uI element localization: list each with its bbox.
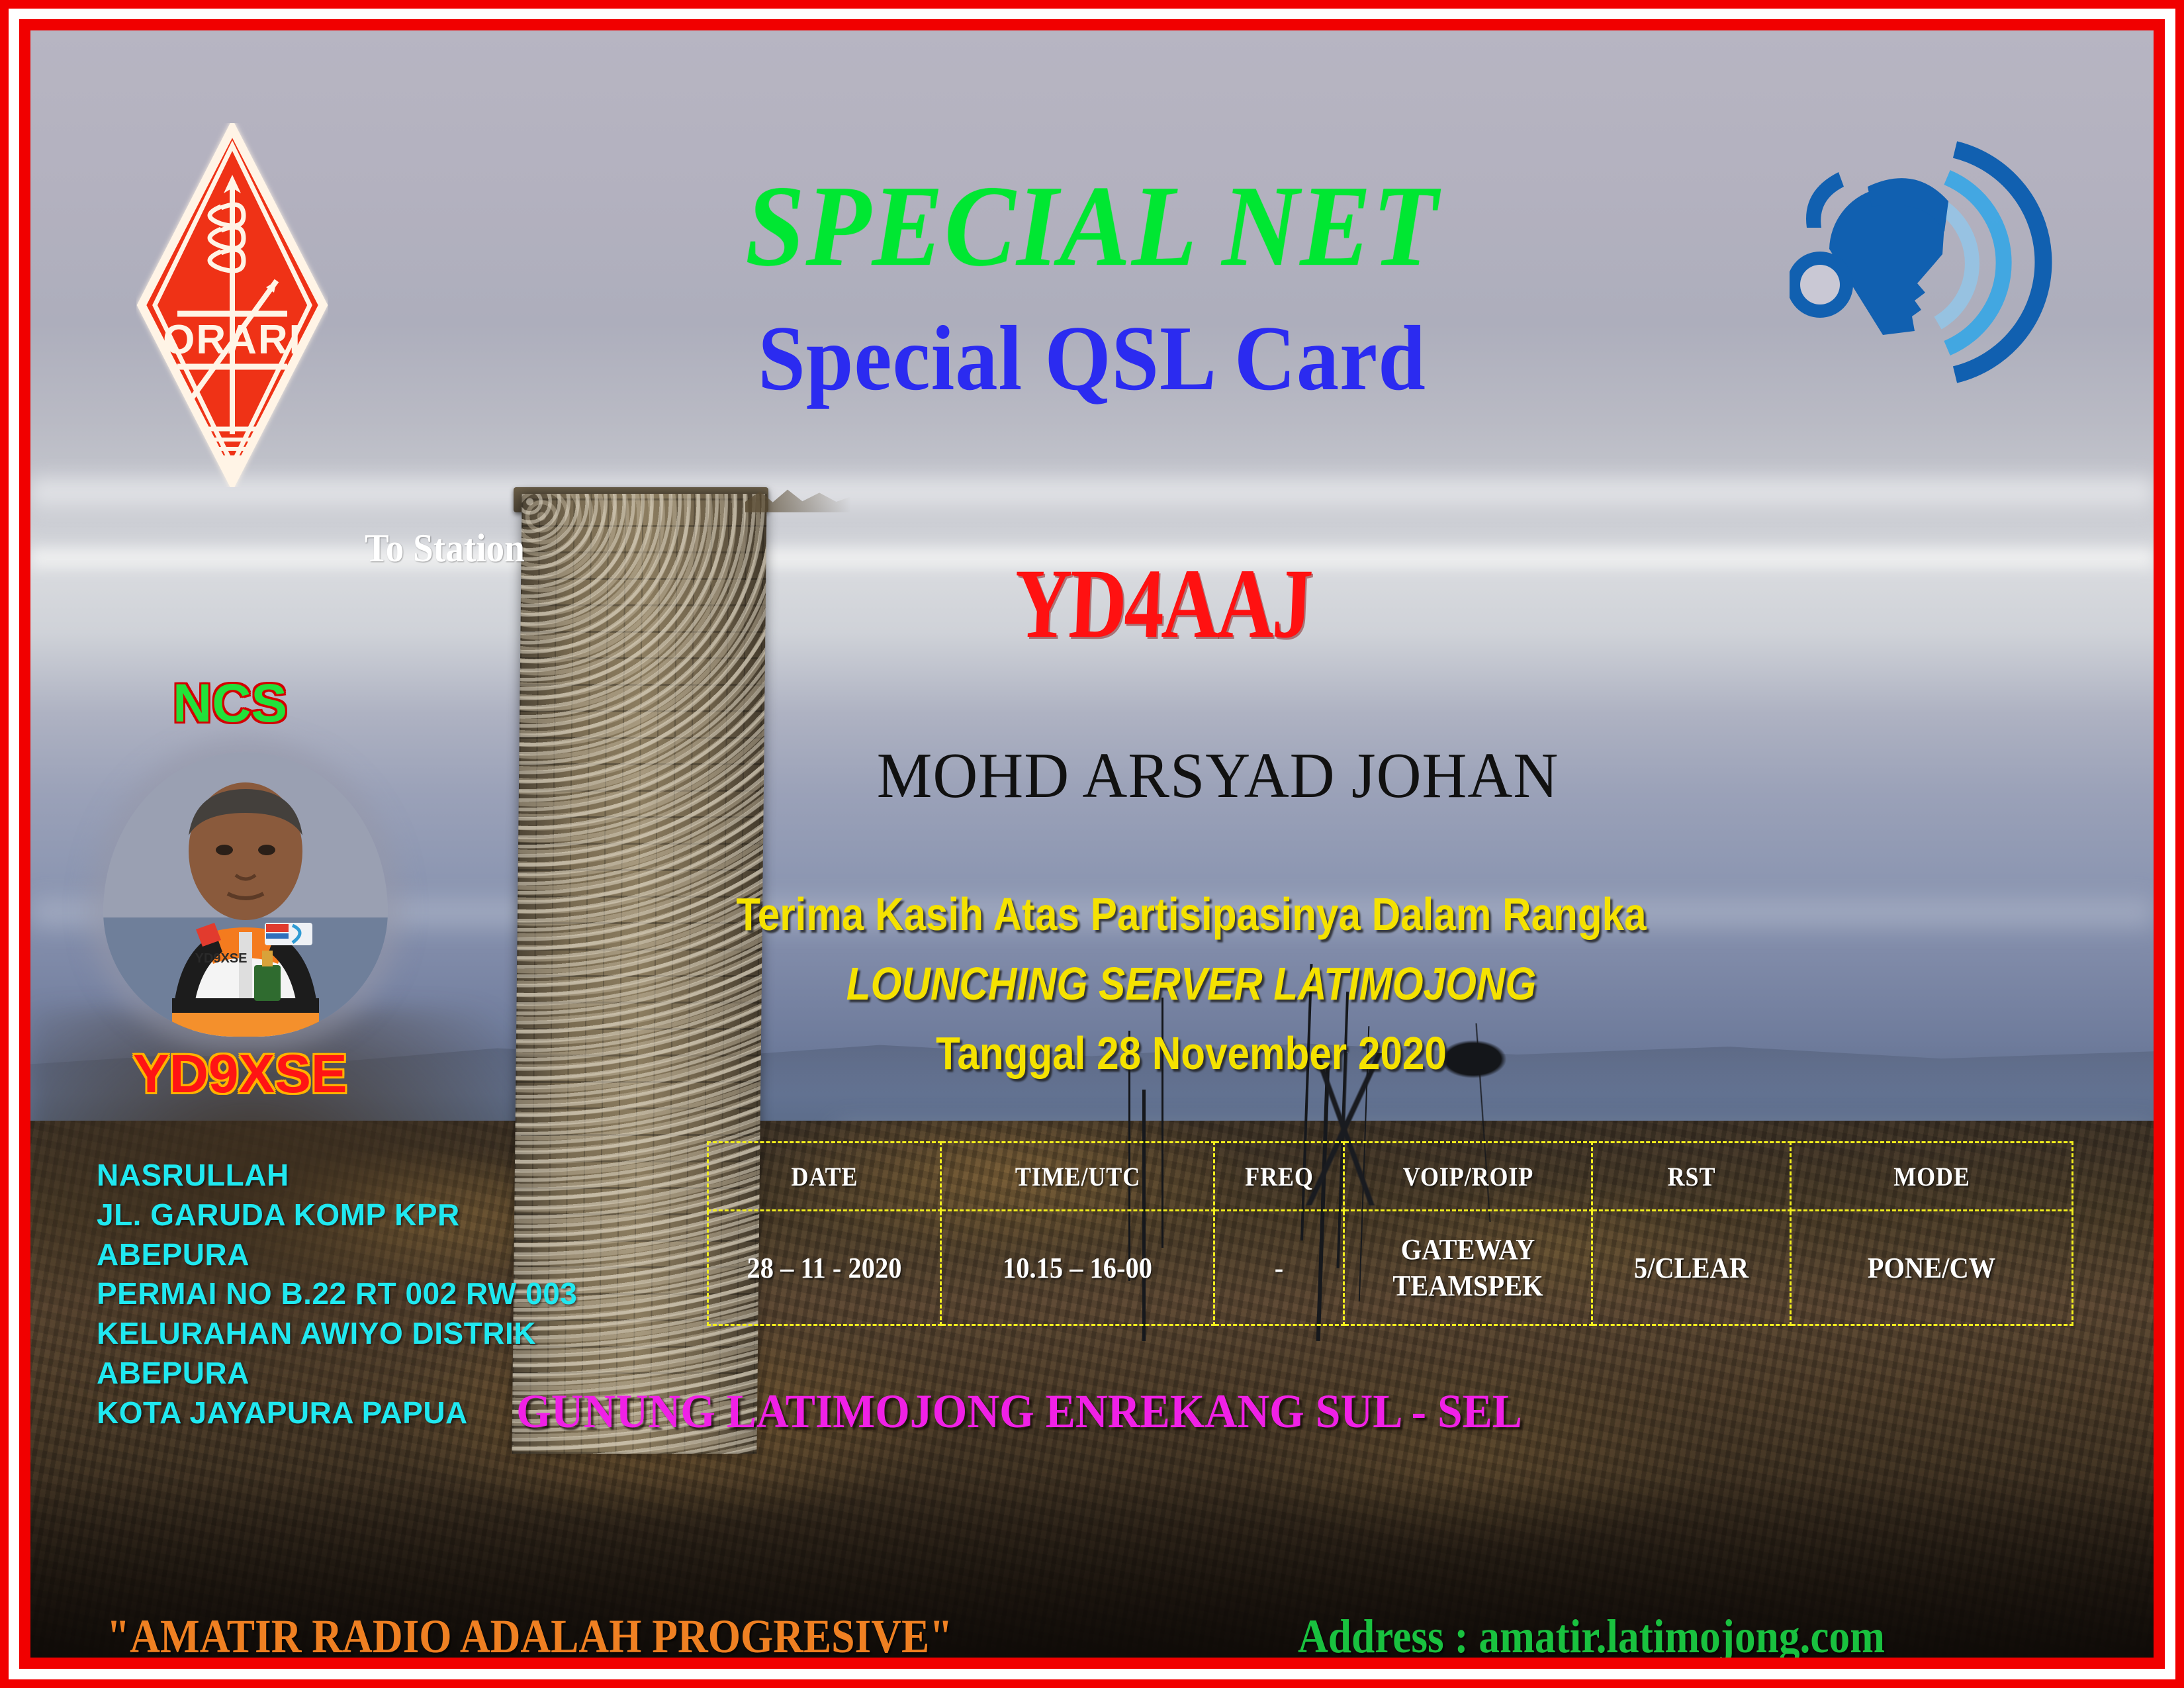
cell-rst: 5/CLEAR bbox=[1592, 1211, 1791, 1325]
qsl-card-outer-border: ORARI SPECIAL NET Special QSL Card bbox=[0, 0, 2184, 1688]
location-line: GUNUNG LATIMOJONG ENREKANG SUL - SEL bbox=[30, 1384, 2017, 1439]
address-line: JL. GARUDA KOMP KPR bbox=[97, 1196, 666, 1235]
page-subtitle: Special QSL Card bbox=[115, 305, 2068, 412]
event-date: Tanggal 28 November 2020 bbox=[279, 1027, 2105, 1080]
qsl-card-photo-canvas: ORARI SPECIAL NET Special QSL Card bbox=[30, 30, 2154, 1658]
address-line: PERMAI NO B.22 RT 002 RW 003 bbox=[97, 1274, 666, 1314]
address-line: ABEPURA bbox=[97, 1235, 666, 1275]
qsl-card-inner-border: ORARI SPECIAL NET Special QSL Card bbox=[19, 19, 2165, 1669]
station-callsign: YD4AAJ bbox=[1012, 547, 1313, 661]
cell-time: 10.15 – 16-00 bbox=[941, 1211, 1214, 1325]
ncs-callsign: YD9XSE bbox=[133, 1043, 347, 1105]
operator-name: MOHD ARSYAD JOHAN bbox=[199, 739, 2154, 813]
cell-mode: PONE/CW bbox=[1791, 1211, 2073, 1325]
address-line: KELURAHAN AWIYO DISTRIK bbox=[97, 1314, 666, 1354]
cell-date: 28 – 11 - 2020 bbox=[708, 1211, 941, 1325]
table-header-row: DATE TIME/UTC FREQ VOIP/ROIP RST MODE bbox=[708, 1143, 2073, 1211]
qsl-card-white-border: ORARI SPECIAL NET Special QSL Card bbox=[9, 9, 2175, 1679]
col-header-voip-roip: VOIP/ROIP bbox=[1356, 1143, 1580, 1211]
col-header-mode: MODE bbox=[1805, 1143, 2058, 1211]
event-thanks-line: Terima Kasih Atas Partisipasinya Dalam R… bbox=[279, 888, 2105, 941]
col-header-time: TIME/UTC bbox=[954, 1143, 1201, 1211]
col-header-date: DATE bbox=[719, 1143, 929, 1211]
ncs-label: NCS bbox=[173, 673, 287, 735]
to-station-label: To Station bbox=[365, 526, 525, 571]
page-title: SPECIAL NET bbox=[115, 160, 2068, 293]
footer-motto: "AMATIR RADIO ADALAH PROGRESIVE" bbox=[107, 1609, 952, 1658]
qso-log-table: DATE TIME/UTC FREQ VOIP/ROIP RST MODE 28… bbox=[707, 1141, 2073, 1326]
address-line: NASRULLAH bbox=[97, 1156, 666, 1196]
cell-voip-roip: GATEWAY TEAMSPEK bbox=[1344, 1211, 1592, 1325]
col-header-freq: FREQ bbox=[1220, 1143, 1337, 1211]
uniform-callsign-patch: YD9XSE bbox=[195, 951, 248, 966]
table-row: 28 – 11 - 2020 10.15 – 16-00 - GATEWAY T… bbox=[708, 1211, 2073, 1325]
col-header-rst: RST bbox=[1602, 1143, 1781, 1211]
cell-freq: - bbox=[1214, 1211, 1344, 1325]
footer-web-address: Address : amatir.latimojong.com bbox=[1298, 1609, 1885, 1658]
event-name: LOUNCHING SERVER LATIMOJONG bbox=[279, 957, 2105, 1010]
